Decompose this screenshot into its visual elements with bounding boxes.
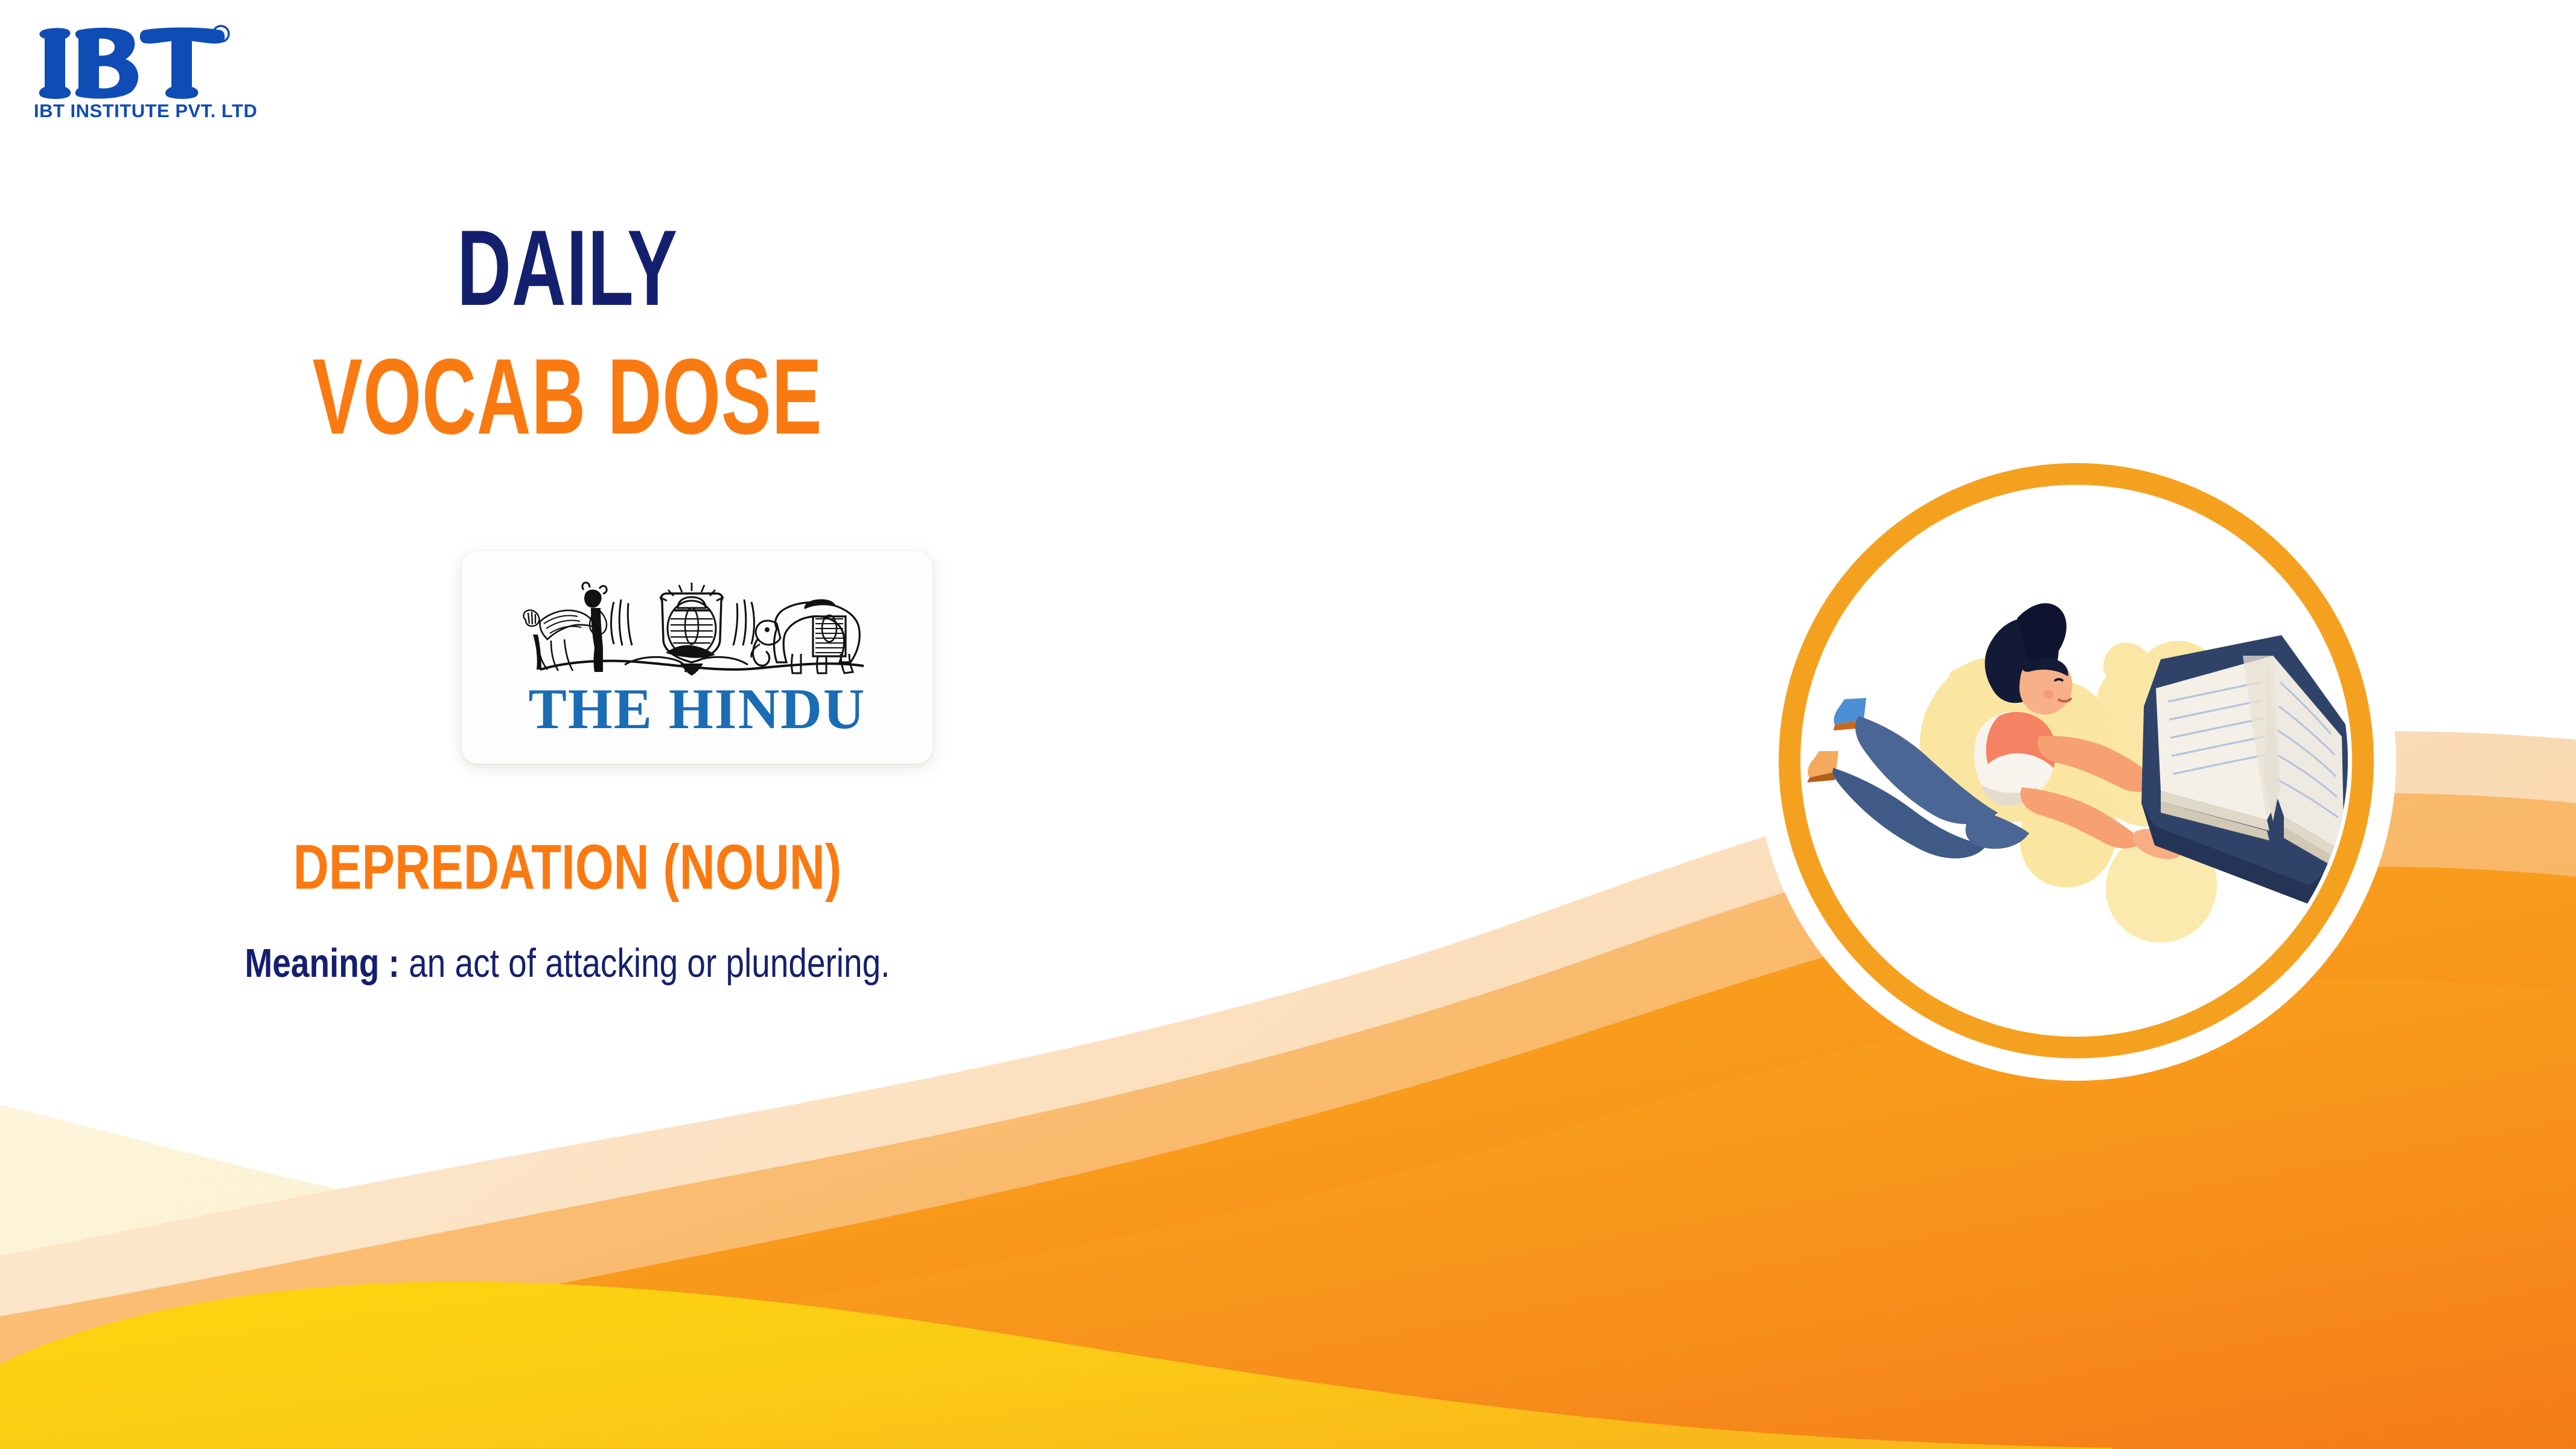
vocab-word-heading: DEPREDATION (NOUN) [125,834,1010,901]
meaning-text: an act of attacking or plundering. [400,941,890,986]
svg-text:R: R [217,29,225,42]
meaning-label: Meaning : [245,941,400,986]
reading-illustration-badge [1738,423,2414,1099]
poster-title-line-1: DAILY [170,214,964,322]
poster-canvas: R IBT INSTITUTE PVT. LTD DAILY VOCAB DOS… [0,0,2576,1449]
ibt-logo: R IBT INSTITUTE PVT. LTD [31,24,257,122]
the-hindu-crest-icon [504,581,890,677]
ibt-wordmark-icon: R [31,24,231,103]
the-hindu-name: THE HINDU [528,680,866,738]
source-publication-card: THE HINDU [462,551,933,764]
cheek-blush [2044,689,2053,699]
vocab-meaning: Meaning : an act of attacking or plunder… [102,942,1033,985]
ibt-logo-subtitle: IBT INSTITUTE PVT. LTD [31,100,257,122]
poster-title-line-2: VOCAB DOSE [170,343,964,450]
